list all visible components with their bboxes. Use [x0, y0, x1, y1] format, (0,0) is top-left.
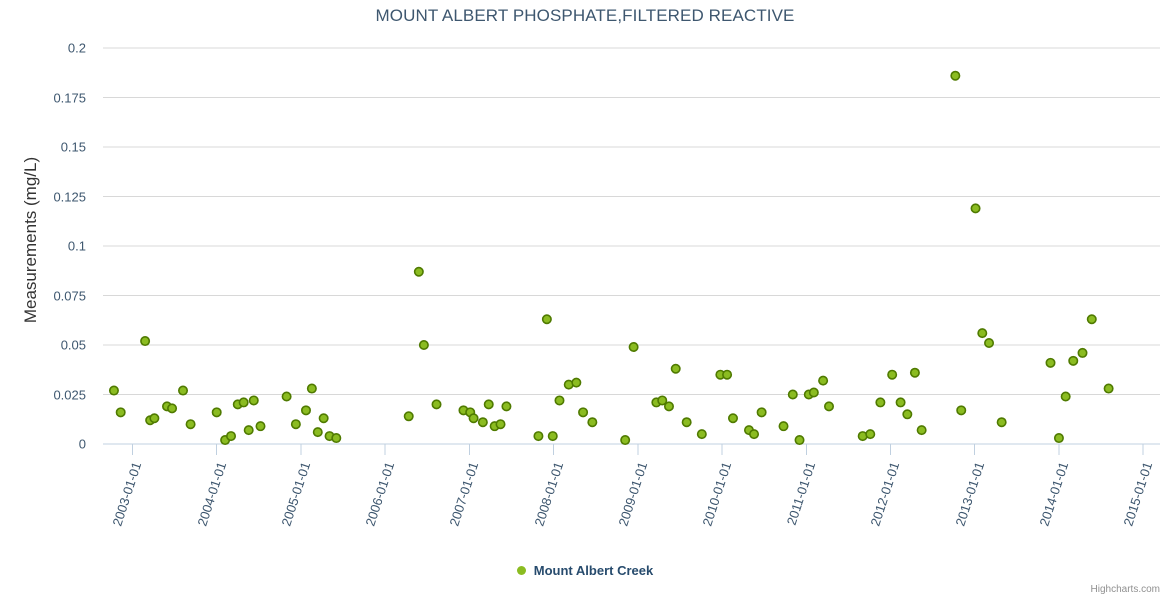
scatter-point[interactable]: [876, 398, 884, 406]
scatter-point[interactable]: [1061, 392, 1069, 400]
scatter-point[interactable]: [682, 418, 690, 426]
scatter-point[interactable]: [629, 343, 637, 351]
scatter-points: [110, 72, 1113, 445]
scatter-point[interactable]: [549, 432, 557, 440]
scatter-point[interactable]: [110, 386, 118, 394]
scatter-point[interactable]: [672, 365, 680, 373]
scatter-point[interactable]: [579, 408, 587, 416]
scatter-point[interactable]: [997, 418, 1005, 426]
scatter-point[interactable]: [985, 339, 993, 347]
scatter-point[interactable]: [168, 404, 176, 412]
x-axis-ticks: [132, 444, 1143, 455]
scatter-point[interactable]: [179, 386, 187, 394]
scatter-point[interactable]: [405, 412, 413, 420]
grid-lines: [103, 48, 1160, 444]
scatter-point[interactable]: [1088, 315, 1096, 323]
highcharts-container: MOUNT ALBERT PHOSPHATE,FILTERED REACTIVE…: [0, 0, 1170, 600]
scatter-point[interactable]: [308, 384, 316, 392]
scatter-point[interactable]: [543, 315, 551, 323]
scatter-point[interactable]: [302, 406, 310, 414]
scatter-point[interactable]: [282, 392, 290, 400]
scatter-point[interactable]: [292, 420, 300, 428]
scatter-point[interactable]: [239, 398, 247, 406]
scatter-point[interactable]: [903, 410, 911, 418]
scatter-point[interactable]: [750, 430, 758, 438]
scatter-point[interactable]: [917, 426, 925, 434]
scatter-point[interactable]: [957, 406, 965, 414]
scatter-point[interactable]: [479, 418, 487, 426]
scatter-point[interactable]: [116, 408, 124, 416]
scatter-point[interactable]: [729, 414, 737, 422]
legend-item-label: Mount Albert Creek: [534, 563, 653, 578]
scatter-point[interactable]: [432, 400, 440, 408]
scatter-point[interactable]: [496, 420, 504, 428]
scatter-point[interactable]: [245, 426, 253, 434]
scatter-point[interactable]: [665, 402, 673, 410]
legend-item-mount-albert-creek[interactable]: Mount Albert Creek: [517, 562, 653, 578]
legend: Mount Albert Creek: [0, 561, 1170, 579]
scatter-point[interactable]: [971, 204, 979, 212]
scatter-point[interactable]: [698, 430, 706, 438]
legend-marker-icon: [517, 566, 526, 575]
scatter-point[interactable]: [1055, 434, 1063, 442]
scatter-point[interactable]: [572, 378, 580, 386]
scatter-point[interactable]: [1069, 357, 1077, 365]
scatter-point[interactable]: [789, 390, 797, 398]
scatter-point[interactable]: [1046, 359, 1054, 367]
scatter-point[interactable]: [555, 396, 563, 404]
scatter-point[interactable]: [1104, 384, 1112, 392]
scatter-point[interactable]: [534, 432, 542, 440]
scatter-point[interactable]: [415, 268, 423, 276]
scatter-point[interactable]: [186, 420, 194, 428]
scatter-point[interactable]: [757, 408, 765, 416]
scatter-point[interactable]: [256, 422, 264, 430]
scatter-point[interactable]: [723, 371, 731, 379]
scatter-point[interactable]: [250, 396, 258, 404]
scatter-point[interactable]: [888, 371, 896, 379]
scatter-point[interactable]: [314, 428, 322, 436]
credits-link[interactable]: Highcharts.com: [1091, 584, 1160, 595]
scatter-point[interactable]: [227, 432, 235, 440]
scatter-point[interactable]: [911, 369, 919, 377]
scatter-point[interactable]: [485, 400, 493, 408]
scatter-point[interactable]: [810, 388, 818, 396]
scatter-point[interactable]: [319, 414, 327, 422]
scatter-point[interactable]: [502, 402, 510, 410]
scatter-point[interactable]: [621, 436, 629, 444]
plot-area: [0, 0, 1170, 600]
scatter-point[interactable]: [141, 337, 149, 345]
scatter-point[interactable]: [332, 434, 340, 442]
scatter-point[interactable]: [469, 414, 477, 422]
scatter-point[interactable]: [213, 408, 221, 416]
scatter-point[interactable]: [866, 430, 874, 438]
scatter-point[interactable]: [951, 72, 959, 80]
scatter-point[interactable]: [420, 341, 428, 349]
scatter-point[interactable]: [588, 418, 596, 426]
scatter-point[interactable]: [795, 436, 803, 444]
scatter-point[interactable]: [779, 422, 787, 430]
scatter-point[interactable]: [825, 402, 833, 410]
scatter-point[interactable]: [978, 329, 986, 337]
scatter-point[interactable]: [896, 398, 904, 406]
scatter-point[interactable]: [150, 414, 158, 422]
scatter-point[interactable]: [819, 376, 827, 384]
scatter-point[interactable]: [1078, 349, 1086, 357]
